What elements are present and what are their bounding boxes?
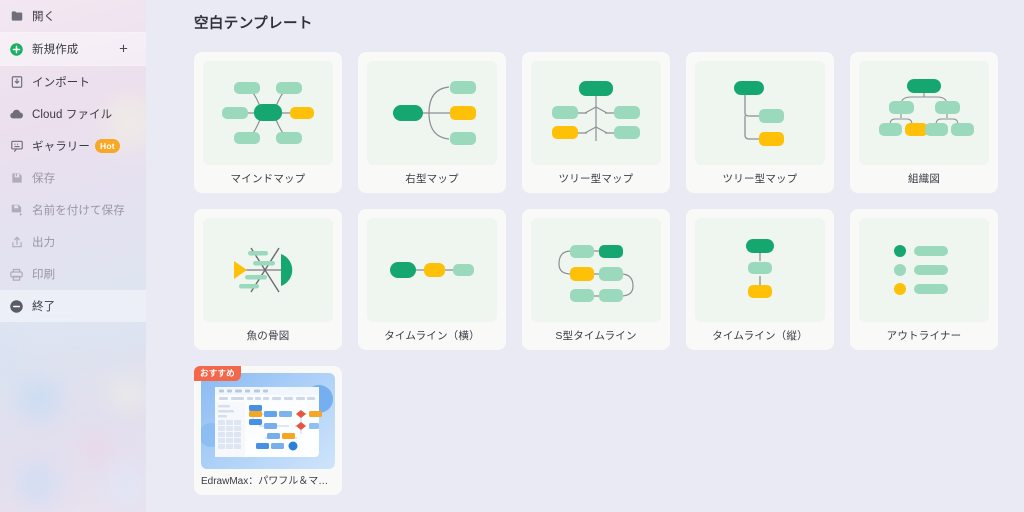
outliner-thumbnail xyxy=(859,218,989,322)
template-label: S型タイムライン xyxy=(555,322,636,350)
sidebar-item-import[interactable]: インポート xyxy=(0,66,146,98)
sidebar-item-label: 新規作成 xyxy=(32,41,78,57)
template-row: マインドマップ 右型マップ xyxy=(194,52,1024,193)
wallpaper-blob xyxy=(110,380,146,408)
main-content: 空白テンプレート xyxy=(146,0,1024,512)
sidebar-item-new[interactable]: 新規作成 + xyxy=(0,33,146,65)
sidebar-item-export[interactable]: 出力 xyxy=(0,226,146,258)
org-chart-thumbnail xyxy=(859,61,989,165)
template-label: タイムライン（横） xyxy=(384,322,480,350)
s-timeline-thumbnail xyxy=(531,218,661,322)
template-card-right-map[interactable]: 右型マップ xyxy=(358,52,506,193)
sidebar-item-label: ギャラリー xyxy=(32,138,90,154)
wallpaper-blob xyxy=(18,462,58,506)
cloud-icon xyxy=(9,107,24,122)
save-icon xyxy=(9,171,24,186)
sidebar: 開く 新規作成 + インポート Cloud ファイル xyxy=(0,0,146,512)
sidebar-item-print[interactable]: 印刷 xyxy=(0,258,146,290)
template-card-mind-map[interactable]: マインドマップ xyxy=(194,52,342,193)
import-icon xyxy=(9,75,24,90)
sidebar-item-label: 名前を付けて保存 xyxy=(32,202,125,218)
folder-icon xyxy=(9,9,24,24)
gallery-icon xyxy=(9,139,24,154)
template-card-outliner[interactable]: アウトライナー xyxy=(850,209,998,350)
template-card-edrawmax-promo[interactable]: おすすめ xyxy=(194,366,342,495)
sidebar-item-save-as[interactable]: 名前を付けて保存 xyxy=(0,194,146,226)
sidebar-item-label: Cloud ファイル xyxy=(32,106,112,122)
sidebar-item-label: 出力 xyxy=(32,234,55,250)
template-label: アウトライナー xyxy=(887,322,962,350)
template-label: 魚の骨図 xyxy=(247,322,290,350)
template-card-timeline-horizontal[interactable]: タイムライン（横） xyxy=(358,209,506,350)
add-new-icon[interactable]: + xyxy=(119,42,128,57)
template-label: ツリー型マップ xyxy=(723,165,798,193)
template-card-timeline-vertical[interactable]: タイムライン（縦） xyxy=(686,209,834,350)
status-badge: Hot xyxy=(95,139,120,153)
template-label: ツリー型マップ xyxy=(559,165,634,193)
fishbone-thumbnail xyxy=(203,218,333,322)
mind-map-thumbnail xyxy=(203,61,333,165)
template-card-tree-map-vertical[interactable]: ツリー型マップ xyxy=(686,52,834,193)
sidebar-item-label: インポート xyxy=(32,74,90,90)
promo-label: EdrawMax：パワフル＆マルチ... xyxy=(201,469,335,495)
wallpaper-blob xyxy=(106,462,146,506)
tree-map-thumbnail xyxy=(531,61,661,165)
sidebar-item-label: 終了 xyxy=(32,298,55,314)
print-icon xyxy=(9,267,24,282)
sidebar-item-label: 印刷 xyxy=(32,266,55,282)
sidebar-item-exit[interactable]: 終了 xyxy=(0,290,146,322)
wallpaper-blob xyxy=(78,432,112,466)
template-label: タイムライン（縦） xyxy=(712,322,808,350)
template-grid: マインドマップ 右型マップ xyxy=(194,52,1024,511)
save-as-icon xyxy=(9,203,24,218)
exit-icon xyxy=(9,299,24,314)
recommended-badge: おすすめ xyxy=(194,366,241,381)
template-card-fishbone[interactable]: 魚の骨図 xyxy=(194,209,342,350)
sidebar-item-save[interactable]: 保存 xyxy=(0,162,146,194)
sidebar-menu: 開く 新規作成 + インポート Cloud ファイル xyxy=(0,0,146,322)
export-icon xyxy=(9,235,24,250)
sidebar-item-label: 開く xyxy=(32,8,55,24)
template-row: 魚の骨図 タイムライン（横） xyxy=(194,209,1024,350)
page-title: 空白テンプレート xyxy=(194,12,313,33)
template-card-tree-map[interactable]: ツリー型マップ xyxy=(522,52,670,193)
sidebar-item-label: 保存 xyxy=(32,170,55,186)
timeline-vertical-thumbnail xyxy=(695,218,825,322)
right-map-thumbnail xyxy=(367,61,497,165)
template-label: 組織図 xyxy=(908,165,940,193)
plus-circle-icon xyxy=(9,42,24,57)
timeline-horizontal-thumbnail xyxy=(367,218,497,322)
tree-map-vertical-thumbnail xyxy=(695,61,825,165)
template-label: 右型マップ xyxy=(405,165,459,193)
sidebar-item-open[interactable]: 開く xyxy=(0,0,146,32)
edrawmax-thumbnail xyxy=(201,373,335,469)
template-row: おすすめ xyxy=(194,366,1024,495)
template-card-s-timeline[interactable]: S型タイムライン xyxy=(522,209,670,350)
template-label: マインドマップ xyxy=(231,165,306,193)
wallpaper-blob xyxy=(18,378,60,420)
template-card-org-chart[interactable]: 組織図 xyxy=(850,52,998,193)
sidebar-item-cloud[interactable]: Cloud ファイル xyxy=(0,98,146,130)
sidebar-item-gallery[interactable]: ギャラリー Hot xyxy=(0,130,146,162)
